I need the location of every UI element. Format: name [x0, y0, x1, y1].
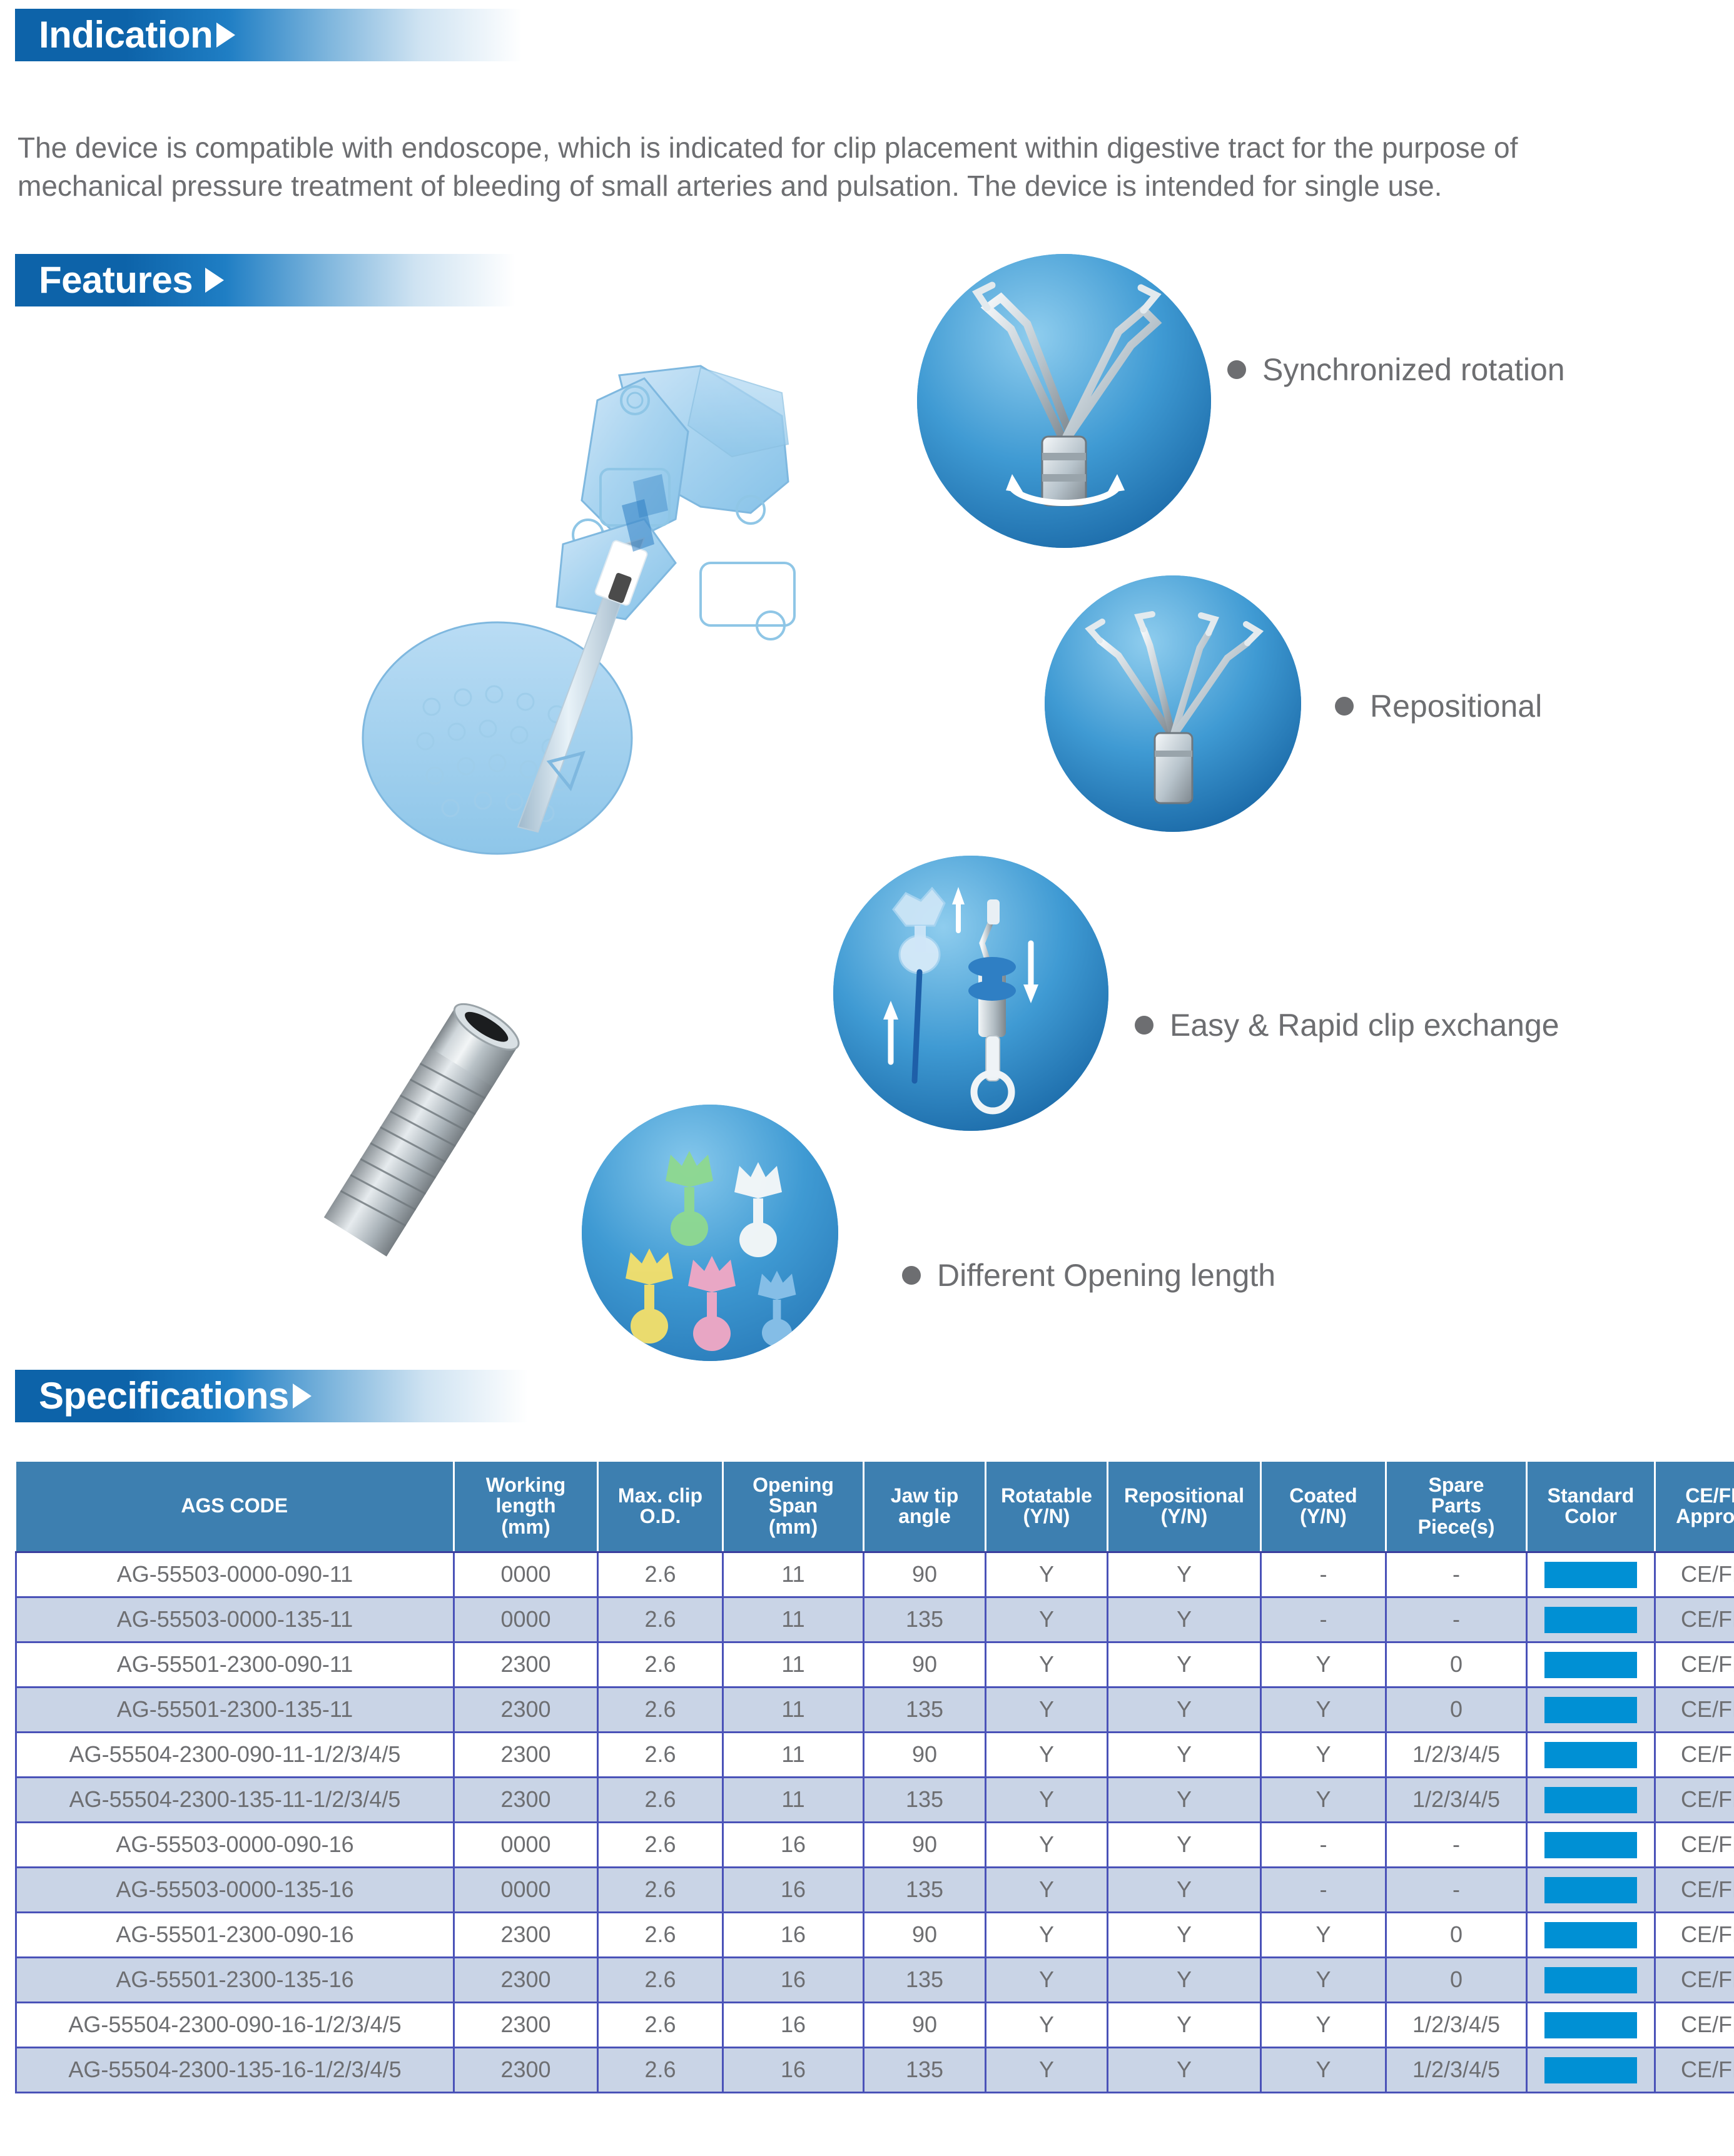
feature-item-clip-exchange: Easy & Rapid clip exchange — [1135, 1007, 1559, 1043]
cell-repositional: Y — [1108, 2047, 1261, 2092]
cell-rotatable: Y — [986, 1912, 1108, 1957]
cell-opening-span: 16 — [723, 2002, 864, 2047]
product-hero-image — [350, 357, 926, 932]
cell-spare-parts: 0 — [1386, 1912, 1527, 1957]
col-header-coated: Coated (Y/N) — [1261, 1462, 1386, 1552]
cell-opening-span: 11 — [723, 1777, 864, 1822]
cell-repositional: Y — [1108, 2002, 1261, 2047]
cell-spare-parts: 0 — [1386, 1687, 1527, 1732]
table-row: AG-55504-2300-135-16-1/2/3/4/523002.6161… — [16, 2047, 1734, 2092]
cell-rotatable: Y — [986, 1732, 1108, 1777]
cell-ce-fda: CE/FDA — [1655, 1957, 1734, 2002]
cell-opening-span: 11 — [723, 1552, 864, 1597]
cell-rotatable: Y — [986, 1552, 1108, 1597]
cell-coated: Y — [1261, 2047, 1386, 2092]
cell-ce-fda: CE/FDA — [1655, 1912, 1734, 1957]
cell-spare-parts: - — [1386, 1867, 1527, 1912]
cell-rotatable: Y — [986, 1597, 1108, 1642]
cell-max-clip-od: 2.6 — [598, 1732, 723, 1777]
specifications-table-container: AGS CODE Working length (mm) Max. clip O… — [15, 1462, 1720, 2093]
cell-standard-color — [1527, 2047, 1655, 2092]
cell-ce-fda: CE/FDA — [1655, 1822, 1734, 1867]
cell-standard-color — [1527, 1642, 1655, 1687]
cell-opening-span: 11 — [723, 1687, 864, 1732]
col-header-ce-fda: CE/FDA Approved — [1655, 1462, 1734, 1552]
indication-body-text: The device is compatible with endoscope,… — [18, 129, 1656, 205]
table-row: AG-55504-2300-135-11-1/2/3/4/523002.6111… — [16, 1777, 1734, 1822]
cell-working-length: 0000 — [454, 1867, 598, 1912]
feature-item-different-opening-length: Different Opening length — [902, 1257, 1275, 1293]
table-row: AG-55503-0000-090-1600002.61690YY--CE/FD… — [16, 1822, 1734, 1867]
cell-standard-color — [1527, 1687, 1655, 1732]
cell-rotatable: Y — [986, 1867, 1108, 1912]
cell-standard-color — [1527, 1912, 1655, 1957]
color-swatch — [1544, 2057, 1637, 2083]
feature-label: Synchronized rotation — [1262, 352, 1565, 388]
cell-working-length: 2300 — [454, 1642, 598, 1687]
cell-spare-parts: - — [1386, 1822, 1527, 1867]
cell-working-length: 2300 — [454, 1912, 598, 1957]
cell-standard-color — [1527, 1867, 1655, 1912]
cell-max-clip-od: 2.6 — [598, 1867, 723, 1912]
cell-rotatable: Y — [986, 1822, 1108, 1867]
cell-coated: - — [1261, 1597, 1386, 1642]
table-row: AG-55501-2300-090-1123002.61190YYY0CE/FD… — [16, 1642, 1734, 1687]
cell-rotatable: Y — [986, 1642, 1108, 1687]
cell-max-clip-od: 2.6 — [598, 1957, 723, 2002]
cell-max-clip-od: 2.6 — [598, 1642, 723, 1687]
color-swatch — [1544, 1697, 1637, 1723]
cell-max-clip-od: 2.6 — [598, 1597, 723, 1642]
feature-item-synchronized-rotation: Synchronized rotation — [1227, 352, 1565, 388]
cell-ce-fda: CE/FDA — [1655, 1867, 1734, 1912]
cell-ags-code: AG-55501-2300-090-11 — [16, 1642, 454, 1687]
cell-rotatable: Y — [986, 1777, 1108, 1822]
cell-rotatable: Y — [986, 1957, 1108, 2002]
cell-opening-span: 11 — [723, 1732, 864, 1777]
cell-jaw-tip-angle: 90 — [864, 2002, 986, 2047]
cell-jaw-tip-angle: 90 — [864, 1552, 986, 1597]
cell-opening-span: 16 — [723, 1822, 864, 1867]
table-row: AG-55504-2300-090-16-1/2/3/4/523002.6169… — [16, 2002, 1734, 2047]
specifications-table: AGS CODE Working length (mm) Max. clip O… — [15, 1462, 1734, 2093]
col-header-spare-parts: Spare Parts Piece(s) — [1386, 1462, 1527, 1552]
cell-standard-color — [1527, 1777, 1655, 1822]
color-swatch — [1544, 1562, 1637, 1588]
cell-working-length: 2300 — [454, 2047, 598, 2092]
cell-coated: - — [1261, 1552, 1386, 1597]
cell-ce-fda: CE/FDA — [1655, 2002, 1734, 2047]
cell-max-clip-od: 2.6 — [598, 1777, 723, 1822]
cell-repositional: Y — [1108, 1597, 1261, 1642]
feature-photo-different-opening-length — [582, 1105, 838, 1361]
cell-ags-code: AG-55504-2300-090-11-1/2/3/4/5 — [16, 1732, 454, 1777]
cell-opening-span: 11 — [723, 1642, 864, 1687]
cell-coated: Y — [1261, 1732, 1386, 1777]
cell-working-length: 2300 — [454, 2002, 598, 2047]
cell-ags-code: AG-55503-0000-135-11 — [16, 1597, 454, 1642]
cell-standard-color — [1527, 1732, 1655, 1777]
col-header-max-clip-od: Max. clip O.D. — [598, 1462, 723, 1552]
table-row: AG-55504-2300-090-11-1/2/3/4/523002.6119… — [16, 1732, 1734, 1777]
feature-item-repositional: Repositional — [1335, 688, 1542, 724]
cell-coated: Y — [1261, 1642, 1386, 1687]
table-row: AG-55501-2300-090-1623002.61690YYY0CE/FD… — [16, 1912, 1734, 1957]
cell-working-length: 2300 — [454, 1777, 598, 1822]
cell-repositional: Y — [1108, 1912, 1261, 1957]
color-swatch — [1544, 1922, 1637, 1948]
cell-coated: Y — [1261, 1912, 1386, 1957]
bullet-dot-icon — [1335, 697, 1354, 716]
cell-repositional: Y — [1108, 1552, 1261, 1597]
cell-standard-color — [1527, 2002, 1655, 2047]
col-header-standard-color: Standard Color — [1527, 1462, 1655, 1552]
cell-ce-fda: CE/FDA — [1655, 1642, 1734, 1687]
cell-jaw-tip-angle: 90 — [864, 1732, 986, 1777]
color-swatch — [1544, 1607, 1637, 1633]
cell-jaw-tip-angle: 90 — [864, 1912, 986, 1957]
cell-jaw-tip-angle: 135 — [864, 1687, 986, 1732]
cell-opening-span: 16 — [723, 1957, 864, 2002]
cell-standard-color — [1527, 1822, 1655, 1867]
cell-repositional: Y — [1108, 1642, 1261, 1687]
indication-banner-label: Indication — [39, 16, 213, 54]
cell-ags-code: AG-55503-0000-135-16 — [16, 1867, 454, 1912]
cell-max-clip-od: 2.6 — [598, 1912, 723, 1957]
cell-ce-fda: CE/FDA — [1655, 2047, 1734, 2092]
cell-working-length: 0000 — [454, 1552, 598, 1597]
cell-ags-code: AG-55504-2300-135-11-1/2/3/4/5 — [16, 1777, 454, 1822]
cell-working-length: 2300 — [454, 1732, 598, 1777]
cell-coated: Y — [1261, 1687, 1386, 1732]
cell-repositional: Y — [1108, 1822, 1261, 1867]
cell-rotatable: Y — [986, 2047, 1108, 2092]
cell-jaw-tip-angle: 135 — [864, 1957, 986, 2002]
cell-max-clip-od: 2.6 — [598, 1822, 723, 1867]
color-swatch — [1544, 2012, 1637, 2038]
cell-ce-fda: CE/FDA — [1655, 1687, 1734, 1732]
cell-jaw-tip-angle: 90 — [864, 1642, 986, 1687]
cell-rotatable: Y — [986, 2002, 1108, 2047]
cell-repositional: Y — [1108, 1777, 1261, 1822]
color-swatch — [1544, 1877, 1637, 1903]
color-swatch — [1544, 1787, 1637, 1813]
cell-opening-span: 16 — [723, 1867, 864, 1912]
cell-spare-parts: - — [1386, 1597, 1527, 1642]
cell-standard-color — [1527, 1552, 1655, 1597]
features-banner-label: Features — [39, 261, 193, 299]
cell-opening-span: 16 — [723, 2047, 864, 2092]
cell-standard-color — [1527, 1957, 1655, 2002]
cell-max-clip-od: 2.6 — [598, 2002, 723, 2047]
cell-opening-span: 11 — [723, 1597, 864, 1642]
triangle-right-icon — [293, 1384, 312, 1409]
color-swatch — [1544, 1832, 1637, 1858]
bullet-dot-icon — [902, 1266, 921, 1285]
cell-jaw-tip-angle: 135 — [864, 1867, 986, 1912]
table-row: AG-55501-2300-135-1623002.616135YYY0CE/F… — [16, 1957, 1734, 2002]
cell-ce-fda: CE/FDA — [1655, 1777, 1734, 1822]
cell-spare-parts: 1/2/3/4/5 — [1386, 2047, 1527, 2092]
cell-standard-color — [1527, 1597, 1655, 1642]
cell-ce-fda: CE/FDA — [1655, 1732, 1734, 1777]
col-header-working-length: Working length (mm) — [454, 1462, 598, 1552]
cell-opening-span: 16 — [723, 1912, 864, 1957]
cell-working-length: 2300 — [454, 1687, 598, 1732]
table-row: AG-55503-0000-135-1100002.611135YY--CE/F… — [16, 1597, 1734, 1642]
table-row: AG-55501-2300-135-1123002.611135YYY0CE/F… — [16, 1687, 1734, 1732]
cell-repositional: Y — [1108, 1687, 1261, 1732]
cell-spare-parts: 1/2/3/4/5 — [1386, 2002, 1527, 2047]
cell-max-clip-od: 2.6 — [598, 1552, 723, 1597]
cell-spare-parts: 1/2/3/4/5 — [1386, 1732, 1527, 1777]
feature-photo-repositional — [1045, 575, 1301, 832]
triangle-right-icon — [205, 268, 224, 293]
table-header-row: AGS CODE Working length (mm) Max. clip O… — [16, 1462, 1734, 1552]
cell-coated: Y — [1261, 1777, 1386, 1822]
triangle-right-icon — [216, 23, 235, 48]
cell-repositional: Y — [1108, 1732, 1261, 1777]
features-banner: Features — [15, 254, 515, 306]
cell-spare-parts: 0 — [1386, 1957, 1527, 2002]
color-swatch — [1544, 1742, 1637, 1768]
indication-banner: Indication — [15, 9, 522, 61]
bullet-dot-icon — [1227, 360, 1246, 379]
feature-label: Different Opening length — [937, 1257, 1275, 1293]
cell-ce-fda: CE/FDA — [1655, 1597, 1734, 1642]
cell-coated: - — [1261, 1867, 1386, 1912]
cell-repositional: Y — [1108, 1957, 1261, 2002]
feature-label: Easy & Rapid clip exchange — [1170, 1007, 1559, 1043]
color-swatch — [1544, 1652, 1637, 1678]
cell-coated: - — [1261, 1822, 1386, 1867]
cell-ags-code: AG-55501-2300-090-16 — [16, 1912, 454, 1957]
cell-working-length: 0000 — [454, 1597, 598, 1642]
cell-coated: Y — [1261, 1957, 1386, 2002]
col-header-ags-code: AGS CODE — [16, 1462, 454, 1552]
cell-ce-fda: CE/FDA — [1655, 1552, 1734, 1597]
feature-photo-synchronized-rotation — [917, 254, 1211, 548]
cell-ags-code: AG-55501-2300-135-16 — [16, 1957, 454, 2002]
cell-ags-code: AG-55503-0000-090-11 — [16, 1552, 454, 1597]
col-header-rotatable: Rotatable (Y/N) — [986, 1462, 1108, 1552]
cell-working-length: 2300 — [454, 1957, 598, 2002]
cell-jaw-tip-angle: 135 — [864, 1777, 986, 1822]
bullet-dot-icon — [1135, 1016, 1153, 1035]
cell-coated: Y — [1261, 2002, 1386, 2047]
cell-max-clip-od: 2.6 — [598, 1687, 723, 1732]
specifications-banner-label: Specifications — [39, 1377, 289, 1415]
cell-jaw-tip-angle: 90 — [864, 1822, 986, 1867]
col-header-repositional: Repositional (Y/N) — [1108, 1462, 1261, 1552]
cell-rotatable: Y — [986, 1687, 1108, 1732]
cell-ags-code: AG-55503-0000-090-16 — [16, 1822, 454, 1867]
cell-working-length: 0000 — [454, 1822, 598, 1867]
color-swatch — [1544, 1967, 1637, 1993]
cell-spare-parts: - — [1386, 1552, 1527, 1597]
cell-ags-code: AG-55501-2300-135-11 — [16, 1687, 454, 1732]
col-header-opening-span: Opening Span (mm) — [723, 1462, 864, 1552]
cell-jaw-tip-angle: 135 — [864, 1597, 986, 1642]
feature-photo-clip-exchange — [833, 856, 1108, 1131]
feature-label: Repositional — [1370, 688, 1542, 724]
col-header-jaw-tip-angle: Jaw tip angle — [864, 1462, 986, 1552]
cell-repositional: Y — [1108, 1867, 1261, 1912]
cell-spare-parts: 1/2/3/4/5 — [1386, 1777, 1527, 1822]
cell-jaw-tip-angle: 135 — [864, 2047, 986, 2092]
cell-ags-code: AG-55504-2300-090-16-1/2/3/4/5 — [16, 2002, 454, 2047]
specifications-banner: Specifications — [15, 1370, 528, 1422]
cell-spare-parts: 0 — [1386, 1642, 1527, 1687]
table-row: AG-55503-0000-090-1100002.61190YY--CE/FD… — [16, 1552, 1734, 1597]
cell-ags-code: AG-55504-2300-135-16-1/2/3/4/5 — [16, 2047, 454, 2092]
cell-max-clip-od: 2.6 — [598, 2047, 723, 2092]
endoscope-tip-image — [294, 976, 557, 1276]
table-row: AG-55503-0000-135-1600002.616135YY--CE/F… — [16, 1867, 1734, 1912]
